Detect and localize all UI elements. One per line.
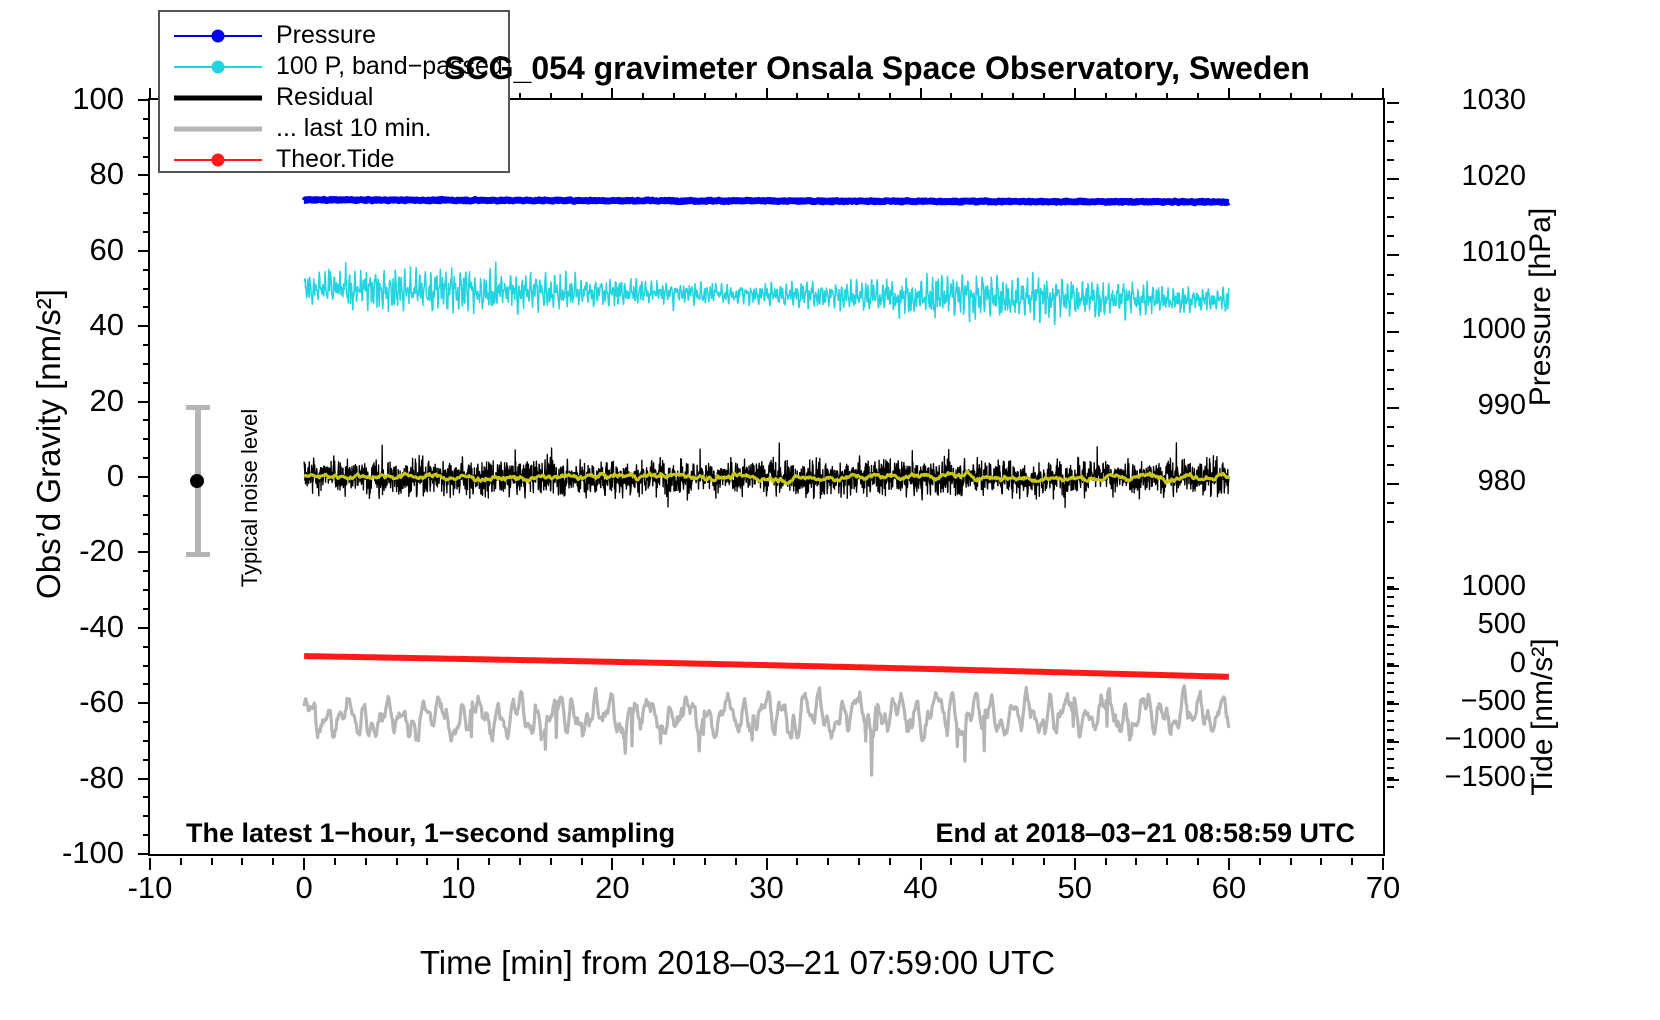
tick-label: 30 xyxy=(707,870,827,906)
tick-label: 100 xyxy=(4,81,124,117)
gravimeter-chart-page: Obs’d Gravity [nm/s²] Pressure [hPa] Tid… xyxy=(0,0,1660,1020)
tick-label: -100 xyxy=(4,835,124,871)
legend-label: Residual xyxy=(276,83,373,112)
legend-label: Theor.Tide xyxy=(276,145,395,174)
tick-label: 60 xyxy=(1169,870,1289,906)
tick-label: 70 xyxy=(1323,870,1443,906)
plot-traces xyxy=(150,100,1383,854)
tick-label: 1010 xyxy=(1416,236,1526,269)
tick-label: 990 xyxy=(1416,389,1526,422)
trace-theor-tide xyxy=(304,656,1229,677)
tick-label: -80 xyxy=(4,760,124,796)
tick-label: 40 xyxy=(861,870,981,906)
noise-level-centre-dot xyxy=(190,474,204,488)
legend-item-2[interactable]: Residual xyxy=(160,83,508,112)
tick-label: −1500 xyxy=(1416,761,1526,794)
trace-band-passed xyxy=(304,262,1229,324)
y-axis-right-pressure-title: Pressure [hPa] xyxy=(1524,142,1558,472)
legend-swatch-icon xyxy=(174,116,262,142)
trace-last-10-min xyxy=(304,686,1229,775)
note-end-time: End at 2018‒03−21 08:58:59 UTC xyxy=(936,818,1356,849)
legend-label: ... last 10 min. xyxy=(276,114,432,143)
tick-label: −1000 xyxy=(1416,723,1526,756)
tick-label: 50 xyxy=(1015,870,1135,906)
legend-marker-dot-icon xyxy=(212,60,225,73)
legend-swatch-icon xyxy=(174,54,262,80)
legend-item-0[interactable]: Pressure xyxy=(160,21,508,50)
tick-label: 1000 xyxy=(1416,570,1526,603)
legend-swatch-icon xyxy=(174,85,262,111)
legend-swatch-icon xyxy=(174,147,262,173)
x-axis-title: Time [min] from 2018‒03‒21 07:59:00 UTC xyxy=(0,944,1475,982)
legend[interactable]: Pressure100 P, band−passedResidual... la… xyxy=(158,10,510,173)
plot-area: -100-80-60-40-20020406080100-10010203040… xyxy=(148,98,1385,856)
legend-swatch-icon xyxy=(174,23,262,49)
tick-label: 80 xyxy=(4,156,124,192)
tick-label: -60 xyxy=(4,684,124,720)
tick-label: 1000 xyxy=(1416,313,1526,346)
legend-marker-dot-icon xyxy=(212,29,225,42)
tick-label: 20 xyxy=(552,870,672,906)
legend-label: Pressure xyxy=(276,21,376,50)
tick-label: -40 xyxy=(4,609,124,645)
trace-pressure xyxy=(304,199,1229,203)
tick-label: -20 xyxy=(4,533,124,569)
chart-title: SCG_054 gravimeter Onsala Space Observat… xyxy=(372,50,1382,87)
tick-label: 500 xyxy=(1416,608,1526,641)
tick-label: 10 xyxy=(398,870,518,906)
tick-label: 1020 xyxy=(1416,160,1526,193)
tick-label: 0 xyxy=(244,870,364,906)
note-sampling: The latest 1−hour, 1−second sampling xyxy=(186,818,675,849)
legend-item-3[interactable]: ... last 10 min. xyxy=(160,114,508,143)
tick-label: 0 xyxy=(4,458,124,494)
y-axis-left-title: Obs’d Gravity [nm/s²] xyxy=(30,224,68,664)
legend-item-4[interactable]: Theor.Tide xyxy=(160,145,508,174)
tick-label: 40 xyxy=(4,307,124,343)
noise-level-label: Typical noise level xyxy=(237,398,263,598)
tick-label: -10 xyxy=(90,870,210,906)
legend-marker-dot-icon xyxy=(212,153,225,166)
tick-label: 60 xyxy=(4,232,124,268)
tick-label: 980 xyxy=(1416,465,1526,498)
trace-residual xyxy=(304,443,1229,508)
tick-label: 20 xyxy=(4,383,124,419)
y-axis-right-tide-title: Tide [nm/s²] xyxy=(1526,602,1560,832)
tick-label: −500 xyxy=(1416,685,1526,718)
tick-label: 0 xyxy=(1416,647,1526,680)
tick-label: 1030 xyxy=(1416,84,1526,117)
